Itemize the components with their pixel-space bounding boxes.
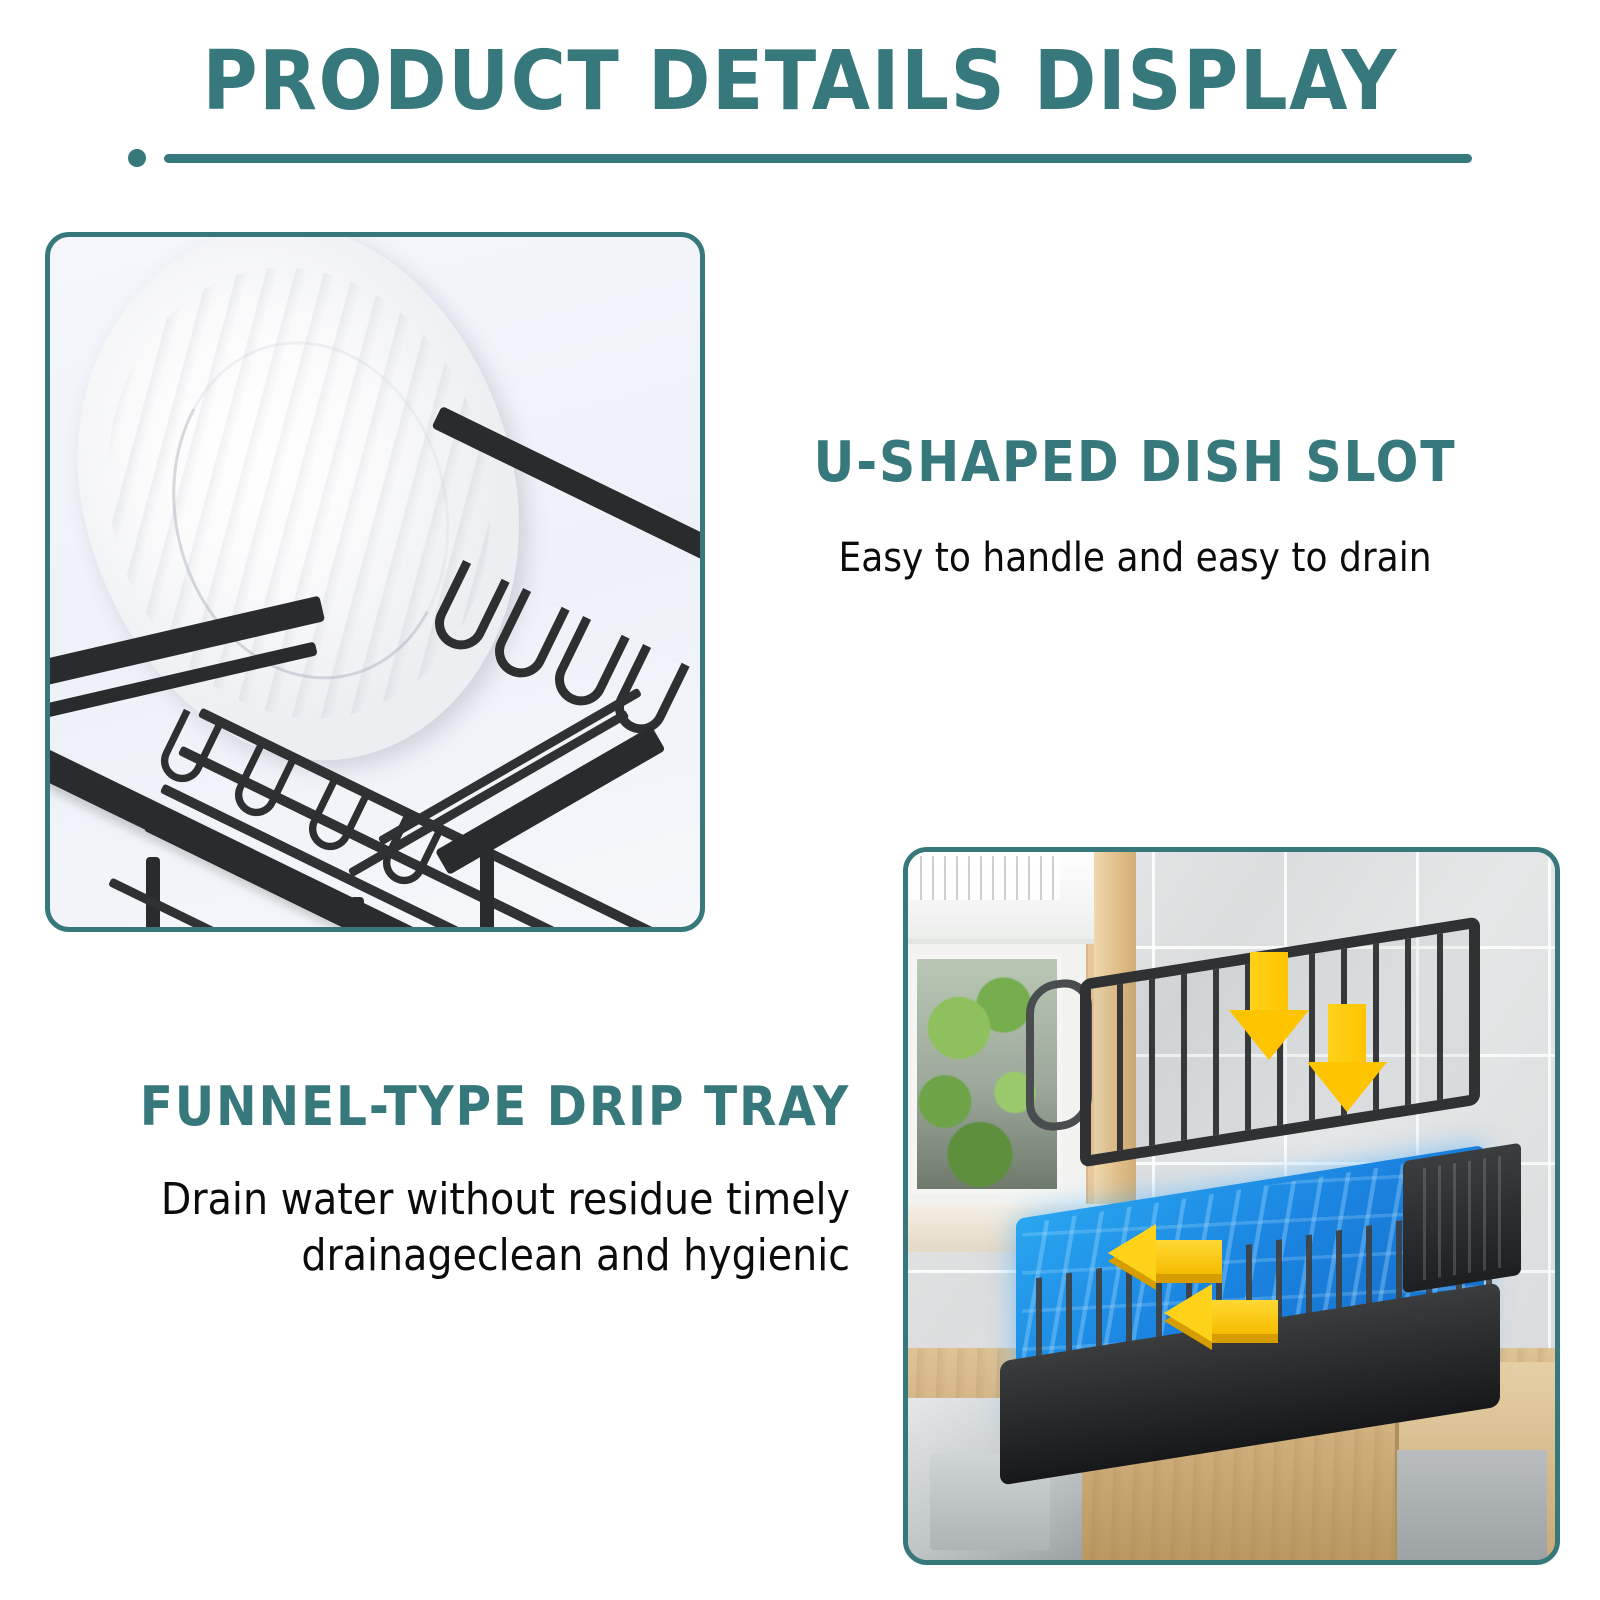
page-title: PRODUCT DETAILS DISPLAY xyxy=(64,34,1536,129)
window-blind xyxy=(910,856,1060,900)
window-upper-panel xyxy=(903,848,1108,944)
feature-text-u-shaped-dish-slot: U-SHAPED DISH SLOT Easy to handle and ea… xyxy=(775,430,1495,581)
utensil-holder xyxy=(1403,1143,1521,1294)
rack-leg xyxy=(480,849,494,932)
cabinet-front xyxy=(1397,1450,1547,1560)
white-plate xyxy=(45,232,569,804)
divider-dot-icon xyxy=(128,149,146,167)
feature-body: Easy to handle and easy to drain xyxy=(811,535,1459,581)
feature-image-funnel-type-drip-tray xyxy=(903,847,1560,1565)
flow-arrow-left-icon xyxy=(1114,1232,1230,1290)
feature-image-u-shaped-dish-slot xyxy=(45,232,705,932)
header-divider xyxy=(128,148,1472,168)
rack-leg xyxy=(350,897,364,932)
feature-heading: FUNNEL-TYPE DRIP TRAY xyxy=(121,1075,850,1138)
rack-lower-rail xyxy=(45,928,422,932)
flow-arrow-left-icon xyxy=(1170,1292,1286,1350)
divider-line xyxy=(164,154,1472,163)
dish-rack-illustration xyxy=(50,237,700,927)
utensil-holder-slots xyxy=(1411,1154,1513,1282)
kitchen-scene-illustration xyxy=(908,852,1555,1560)
plate-texture xyxy=(64,232,535,757)
feature-heading: U-SHAPED DISH SLOT xyxy=(811,430,1459,495)
feature-text-funnel-type-drip-tray: FUNNEL-TYPE DRIP TRAY Drain water withou… xyxy=(40,1075,850,1285)
feature-body: Drain water without residue timely drain… xyxy=(121,1172,850,1285)
